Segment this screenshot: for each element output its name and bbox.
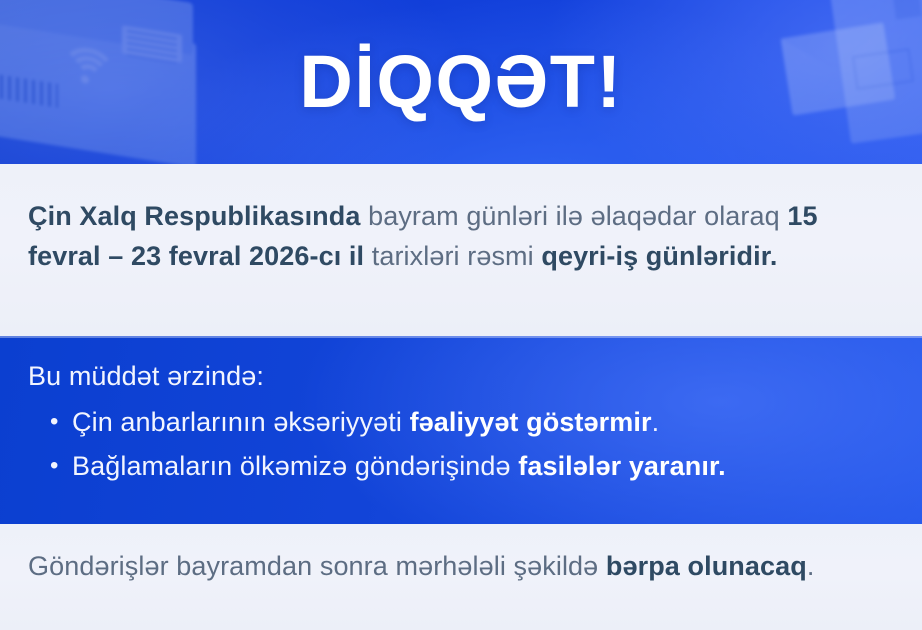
outro-tail: . xyxy=(807,551,815,581)
bullet-text-2: Bağlamaların ölkəmizə göndərişində xyxy=(72,451,518,481)
outro-paragraph: Göndərişlər bayramdan sonra mərhələli şə… xyxy=(28,546,882,586)
list-item: Çin anbarlarının əksəriyyəti fəaliyyət g… xyxy=(72,400,726,444)
intro-text-1: bayram günləri ilə əlaqədar olaraq xyxy=(360,201,787,231)
page-title: DİQQƏT! xyxy=(0,0,922,164)
intro-paragraph: Çin Xalq Respublikasında bayram günləri … xyxy=(28,196,882,276)
outro-section: Göndərişlər bayramdan sonra mərhələli şə… xyxy=(0,524,922,630)
intro-closing: qeyri-iş günləridir. xyxy=(541,241,777,271)
list-item: Bağlamaların ölkəmizə göndərişində fasil… xyxy=(72,444,726,488)
intro-country: Çin Xalq Respublikasında xyxy=(28,201,360,231)
intro-text-2: tarixləri rəsmi xyxy=(364,241,541,271)
bullet-emphasis-1: fəaliyyət göstərmir xyxy=(410,407,652,437)
announcement-poster: DİQQƏT! Çin Xalq Respublikasında bayram … xyxy=(0,0,922,630)
bullet-text-1: Çin anbarlarının əksəriyyəti xyxy=(72,407,410,437)
notice-bullet-list: Çin anbarlarının əksəriyyəti fəaliyyət g… xyxy=(46,400,766,488)
bullet-tail-1: . xyxy=(652,407,660,437)
outro-emphasis: bərpa olunacaq xyxy=(606,551,807,581)
intro-section: Çin Xalq Respublikasında bayram günləri … xyxy=(0,164,922,336)
hero-banner: DİQQƏT! xyxy=(0,0,922,164)
bullet-emphasis-2: fasilələr yaranır. xyxy=(518,451,725,481)
notice-lead: Bu müddət ərzində: xyxy=(28,358,264,394)
outro-text: Göndərişlər bayramdan sonra mərhələli şə… xyxy=(28,551,606,581)
notice-section: Bu müddət ərzində: Çin anbarlarının əksə… xyxy=(0,336,922,524)
